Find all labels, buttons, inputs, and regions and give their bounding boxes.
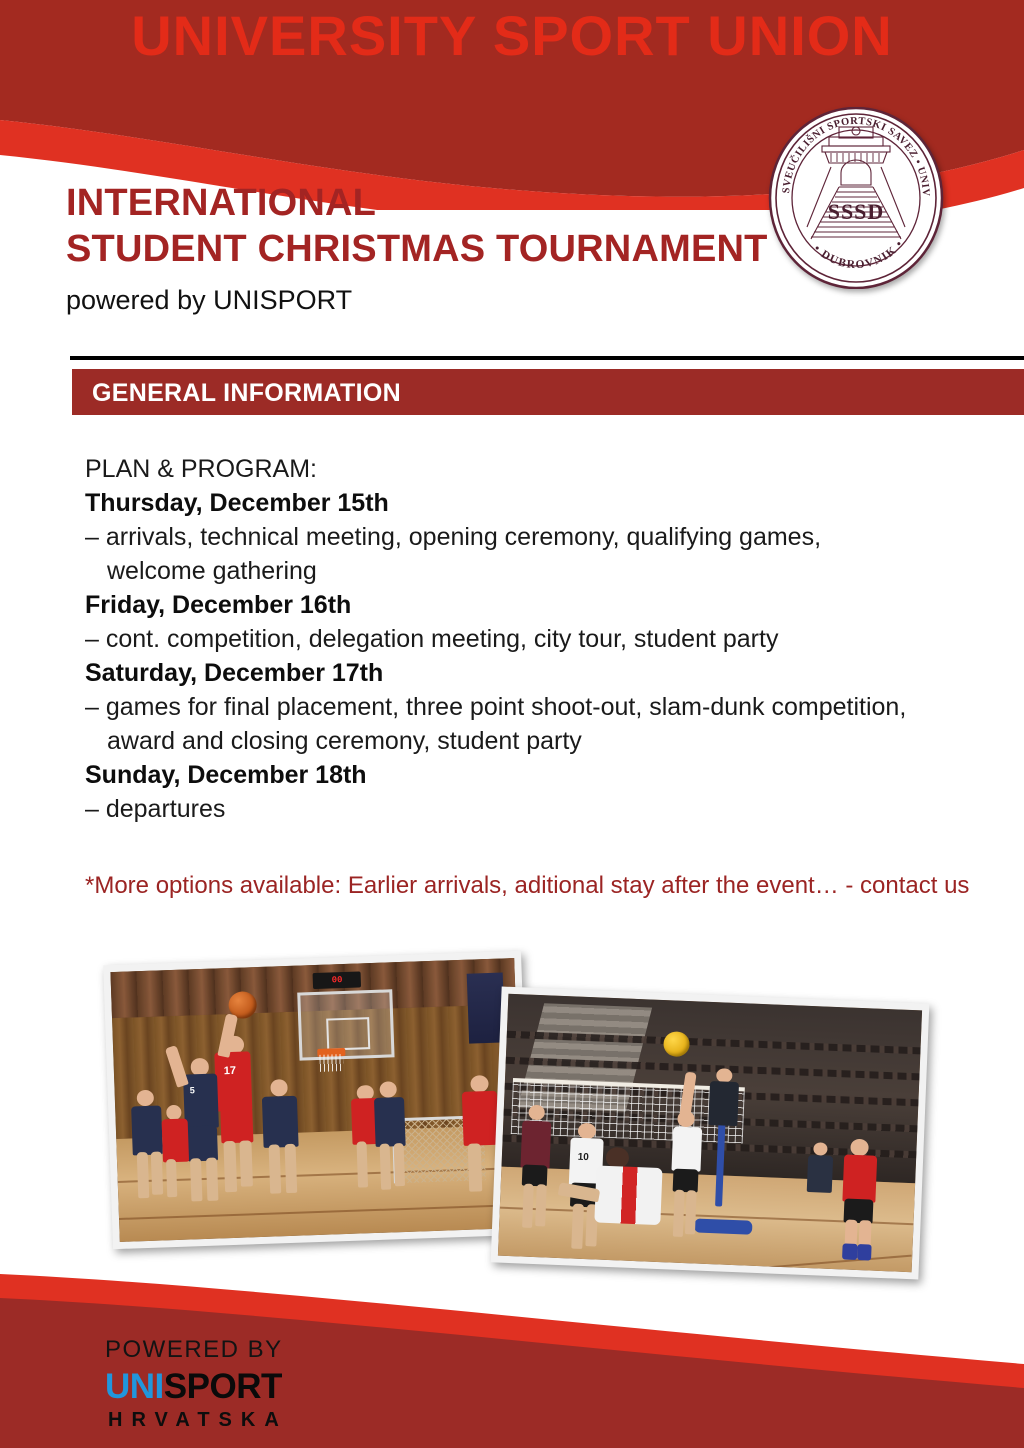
day-detail-thursday-line2: welcome gathering — [85, 554, 965, 588]
jersey-number-defender: 5 — [190, 1085, 195, 1095]
day-label-friday: Friday, December 16th — [85, 588, 965, 622]
day-detail-sunday-line1: – departures — [85, 795, 225, 823]
photo-collage: 00 17 5 — [0, 930, 1024, 1320]
page-title: INTERNATIONAL STUDENT CHRISTMAS TOURNAME… — [66, 180, 768, 316]
unisport-logo-uni: UNI — [105, 1367, 164, 1406]
scoreboard: 00 — [313, 971, 362, 989]
player-spiker — [671, 1126, 702, 1172]
jersey-number-shooter: 17 — [224, 1065, 237, 1077]
player-right — [842, 1154, 877, 1202]
jersey-number-10: 10 — [577, 1151, 589, 1162]
basketball-backboard — [297, 989, 394, 1060]
day-detail-saturday-line2: award and closing ceremony, student part… — [85, 724, 965, 758]
footer-branding: POWERED BY UNISPORT HRVATSKA — [105, 1338, 288, 1430]
program-content: PLAN & PROGRAM: Thursday, December 15th … — [85, 452, 965, 901]
day-detail-saturday-line1: – games for final placement, three point… — [85, 693, 906, 721]
title-line-1: INTERNATIONAL — [66, 180, 768, 226]
day-label-saturday: Saturday, December 17th — [85, 656, 965, 690]
unisport-logo: UNISPORT — [105, 1369, 288, 1404]
player-foreground — [595, 1165, 663, 1225]
sssd-dubrovnik-seal-logo: SSSD SVEUČILIŠNI SPORTSKI SAVEZ • UNIVER… — [767, 107, 945, 289]
player-shooter — [214, 1051, 252, 1112]
basketball-net — [319, 1054, 344, 1071]
day-detail-sunday: – departures — [85, 792, 965, 826]
title-subtitle: powered by UNISPORT — [66, 285, 768, 316]
day-detail-saturday: – games for final placement, three point… — [85, 690, 965, 758]
volleyball-game-photo: 10 — [491, 987, 930, 1280]
basketball-game-photo: 00 17 5 — [103, 951, 531, 1249]
day-detail-friday-line1: – cont. competition, delegation meeting,… — [85, 625, 778, 653]
day-detail-thursday: – arrivals, technical meeting, opening c… — [85, 520, 965, 588]
seal-center-text: SSSD — [828, 199, 885, 224]
more-options-note: *More options available: Earlier arrival… — [85, 870, 965, 901]
day-label-sunday: Sunday, December 18th — [85, 758, 965, 792]
poster-page: UNIVERSITY SPORT UNION — [0, 0, 1024, 1448]
day-detail-friday: – cont. competition, delegation meeting,… — [85, 622, 965, 656]
day-detail-thursday-line1: – arrivals, technical meeting, opening c… — [85, 523, 821, 551]
title-divider — [70, 356, 1024, 360]
powered-by-label: POWERED BY — [105, 1338, 288, 1362]
day-label-thursday: Thursday, December 15th — [85, 486, 965, 520]
section-banner-label: GENERAL INFORMATION — [92, 379, 401, 408]
title-line-2: STUDENT CHRISTMAS TOURNAMENT — [66, 226, 768, 272]
general-information-banner: GENERAL INFORMATION — [72, 369, 1024, 415]
program-heading: PLAN & PROGRAM: — [85, 452, 965, 486]
unisport-logo-subtitle: HRVATSKA — [108, 1410, 288, 1430]
unisport-logo-sport: SPORT — [164, 1367, 282, 1406]
